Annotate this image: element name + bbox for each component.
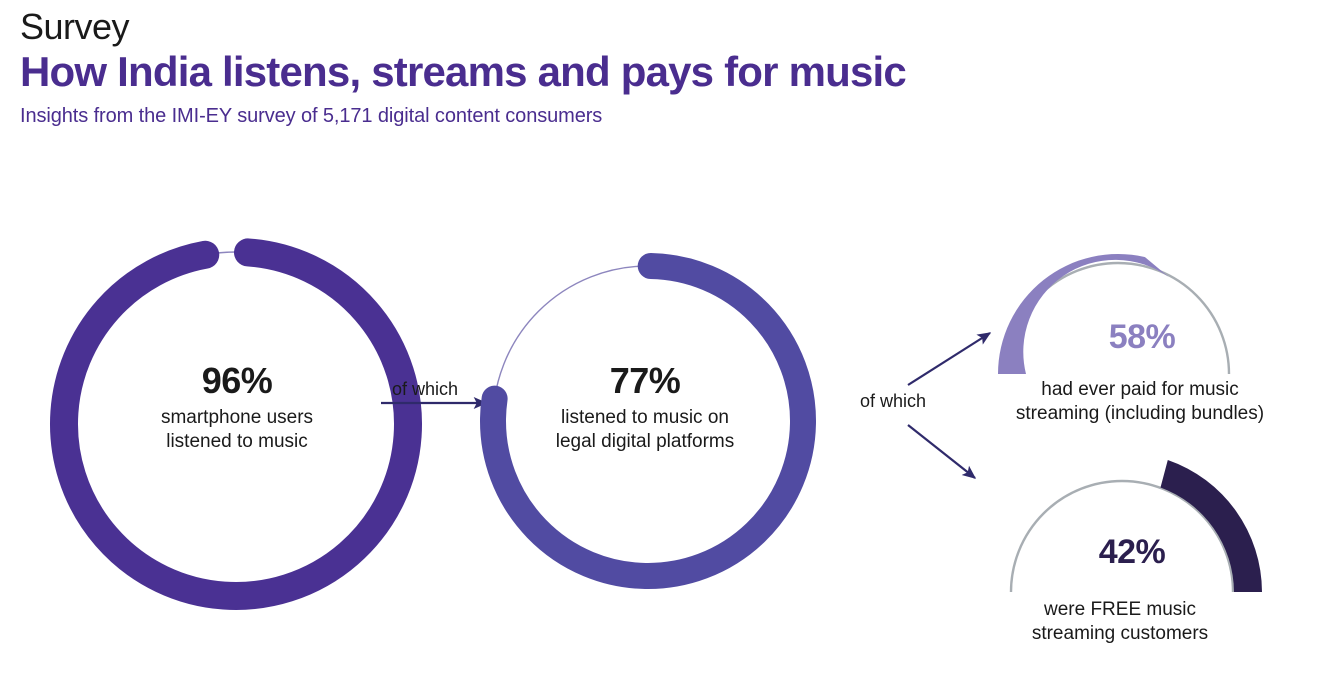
gauge-58-caption-line2-plain: streaming [1016,403,1105,424]
gauge-58-caption: had ever paid for music streaming (inclu… [960,378,1320,427]
donut-96-caption: smartphone users listened to music [82,406,392,454]
gauge-42-caption-line1: were FREE music [960,598,1280,622]
gauge-58-caption-line2-emphasis: (including bundles) [1105,403,1265,424]
donut-96-caption-line2: listened to music [82,430,392,454]
donut-96-caption-line1: smartphone users [82,406,392,430]
donut-77-caption-line2: legal digital platforms [495,430,795,454]
gauge-58-caption-line2: streaming (including bundles) [960,402,1320,426]
gauge-58-value: 58% [1042,318,1242,357]
donut-96-value: 96% [82,363,392,399]
gauge-58-caption-line1: had ever paid for music [960,378,1320,402]
donut-77-caption: listened to music on legal digital platf… [495,406,795,454]
donut-77-label-group: 77% listened to music on legal digital p… [495,363,795,454]
donut-77-value: 77% [495,363,795,399]
connector-arrow-2-down [908,425,975,478]
connector-label-2: of which [860,391,926,412]
donut-77-caption-line1: listened to music on [495,406,795,430]
gauge-42-caption: were FREE music streaming customers [960,598,1280,647]
donut-96-label-group: 96% smartphone users listened to music [82,363,392,454]
gauge-42-value: 42% [1032,533,1232,572]
gauge-42-value-arc [1161,460,1263,592]
gauge-42-caption-line2: streaming customers [960,622,1280,646]
infographic-diagram: 96% smartphone users listened to music 7… [0,0,1322,684]
connector-label-1: of which [392,379,458,400]
